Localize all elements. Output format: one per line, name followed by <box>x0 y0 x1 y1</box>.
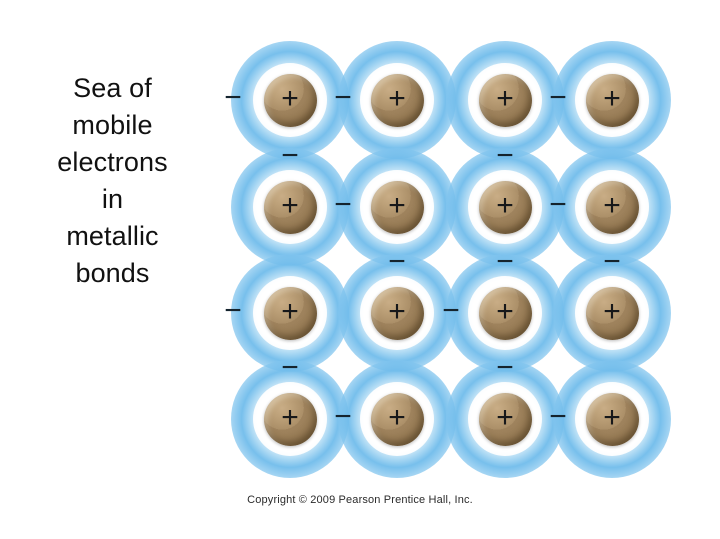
electron-cloud-core <box>253 63 327 137</box>
caption-line-5: metallic <box>10 218 215 255</box>
mobile-electron-e-v23-c2: − <box>384 253 410 275</box>
positive-charge-icon: + <box>496 403 514 433</box>
mobile-electron-e-r2-c34: − <box>545 196 571 218</box>
negative-charge-icon: − <box>496 141 514 171</box>
positive-charge-icon: + <box>388 191 406 221</box>
negative-charge-icon: − <box>496 353 514 383</box>
cation-sphere: + <box>264 181 317 234</box>
electron-cloud-core <box>360 276 434 350</box>
cation-sphere: + <box>479 287 532 340</box>
mobile-electron-e-v23-c4: − <box>599 253 625 275</box>
electron-cloud-core <box>360 382 434 456</box>
mobile-electron-e-r4-c34: − <box>545 408 571 430</box>
mobile-electron-e-v34-c1: − <box>277 359 303 381</box>
electron-cloud-core <box>575 276 649 350</box>
mobile-electron-e-r1-c34: − <box>545 89 571 111</box>
negative-charge-icon: − <box>549 402 567 432</box>
electron-cloud-core <box>575 63 649 137</box>
caption-line-4: in <box>10 181 215 218</box>
mobile-electron-e-r2-c12: − <box>330 196 356 218</box>
negative-charge-icon: − <box>388 247 406 277</box>
electron-cloud-core <box>468 382 542 456</box>
electron-cloud-core <box>575 170 649 244</box>
positive-charge-icon: + <box>603 297 621 327</box>
negative-charge-icon: − <box>281 141 299 171</box>
caption-line-6: bonds <box>10 255 215 292</box>
cation-sphere: + <box>371 393 424 446</box>
figure-canvas: Sea of mobile electrons in metallic bond… <box>0 0 720 539</box>
cation-sphere: + <box>371 74 424 127</box>
positive-charge-icon: + <box>388 403 406 433</box>
cation-sphere: + <box>479 393 532 446</box>
mobile-electron-e-v23-c3: − <box>492 253 518 275</box>
negative-charge-icon: − <box>549 190 567 220</box>
negative-charge-icon: − <box>334 190 352 220</box>
positive-charge-icon: + <box>496 191 514 221</box>
mobile-electron-e-v34-c3: − <box>492 359 518 381</box>
electron-cloud-core <box>468 170 542 244</box>
mobile-electron-e-r1-c12: − <box>330 89 356 111</box>
cation-sphere: + <box>264 74 317 127</box>
metallic-lattice: ++++++++++++++++−−−−−−−−−−−−−−−− <box>215 33 675 478</box>
positive-charge-icon: + <box>496 84 514 114</box>
positive-charge-icon: + <box>603 84 621 114</box>
negative-charge-icon: − <box>224 83 242 113</box>
positive-charge-icon: + <box>388 84 406 114</box>
electron-cloud-core <box>253 276 327 350</box>
figure-caption: Sea of mobile electrons in metallic bond… <box>10 70 215 292</box>
cation-sphere: + <box>586 74 639 127</box>
cation-sphere: + <box>264 393 317 446</box>
positive-charge-icon: + <box>281 297 299 327</box>
negative-charge-icon: − <box>442 296 460 326</box>
positive-charge-icon: + <box>281 191 299 221</box>
mobile-electron-e-r4-c12: − <box>330 408 356 430</box>
mobile-electron-e-v12-c3: − <box>492 147 518 169</box>
copyright-notice: Copyright © 2009 Pearson Prentice Hall, … <box>0 494 720 506</box>
electron-cloud-core <box>360 170 434 244</box>
cation-sphere: + <box>371 287 424 340</box>
cation-sphere: + <box>586 287 639 340</box>
caption-line-2: mobile <box>10 107 215 144</box>
caption-line-3: electrons <box>10 144 215 181</box>
cation-sphere: + <box>586 181 639 234</box>
positive-charge-icon: + <box>281 403 299 433</box>
negative-charge-icon: − <box>334 83 352 113</box>
cation-sphere: + <box>479 74 532 127</box>
negative-charge-icon: − <box>281 353 299 383</box>
negative-charge-icon: − <box>603 247 621 277</box>
mobile-electron-e-r3-left: − <box>220 302 246 324</box>
positive-charge-icon: + <box>281 84 299 114</box>
positive-charge-icon: + <box>496 297 514 327</box>
positive-charge-icon: + <box>603 403 621 433</box>
electron-cloud-core <box>468 276 542 350</box>
negative-charge-icon: − <box>549 83 567 113</box>
negative-charge-icon: − <box>496 247 514 277</box>
electron-cloud-core <box>360 63 434 137</box>
caption-line-1: Sea of <box>10 70 215 107</box>
electron-cloud-core <box>468 63 542 137</box>
cation-sphere: + <box>371 181 424 234</box>
cation-sphere: + <box>264 287 317 340</box>
cation-sphere: + <box>586 393 639 446</box>
mobile-electron-e-r1-left: − <box>220 89 246 111</box>
negative-charge-icon: − <box>224 296 242 326</box>
electron-cloud-core <box>253 170 327 244</box>
electron-cloud-core <box>253 382 327 456</box>
mobile-electron-e-r3-c23: − <box>438 302 464 324</box>
negative-charge-icon: − <box>334 402 352 432</box>
positive-charge-icon: + <box>603 191 621 221</box>
positive-charge-icon: + <box>388 297 406 327</box>
cation-sphere: + <box>479 181 532 234</box>
mobile-electron-e-v12-c1: − <box>277 147 303 169</box>
electron-cloud-core <box>575 382 649 456</box>
